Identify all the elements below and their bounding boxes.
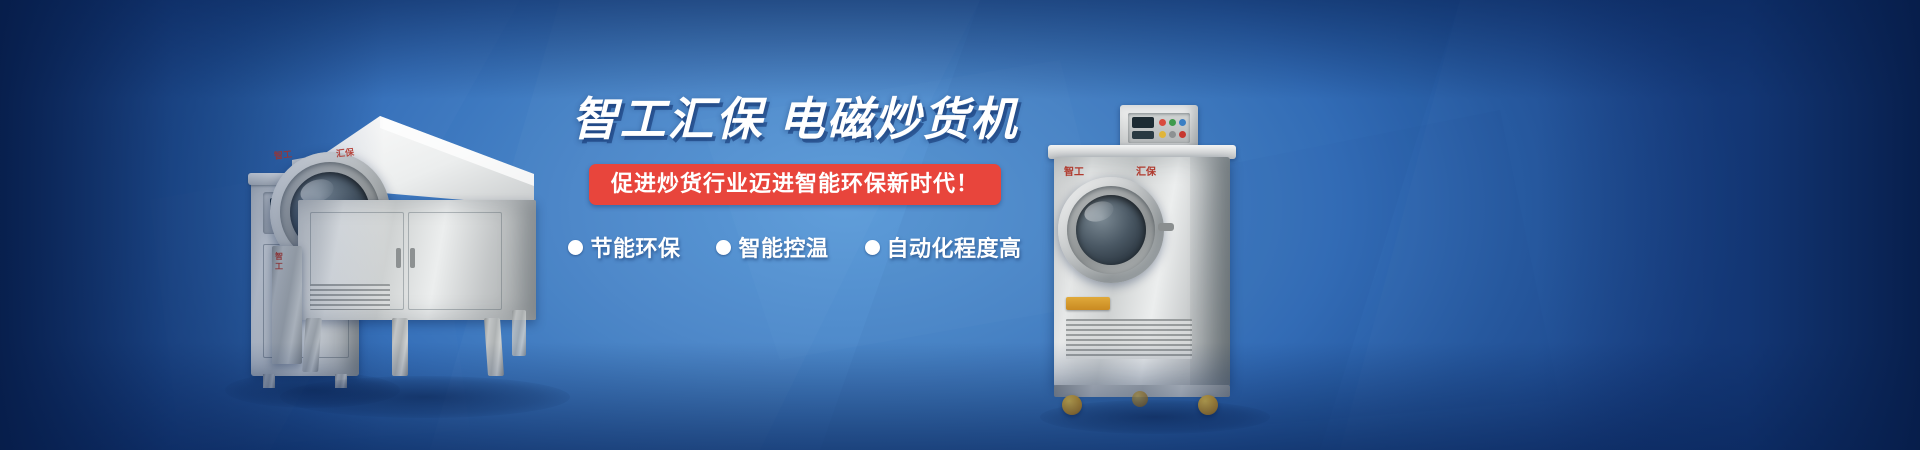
left-roaster-leg-3 [484,318,504,376]
filled-circle-bullet-icon [865,240,880,255]
left-roaster-vent-grille [310,284,390,310]
right-roaster-caster-front-left [1062,395,1082,415]
product-right-roaster: 智工 汇保 [1040,105,1270,415]
filled-circle-bullet-icon [568,240,583,255]
right-panel-yellow-light [1159,131,1166,138]
filled-circle-bullet-icon [716,240,731,255]
left-roaster-column-label: 智工 [275,252,284,273]
left-roaster-door-handle-right[interactable] [410,248,415,268]
feature-label: 智能控温 [738,231,828,263]
promotional-banner: 智工 汇保 智工 智工汇保 电磁炒货机 促进炒货行业迈进智能环保新时代！ 节能环… [0,0,1920,450]
right-panel-green-light [1169,119,1176,126]
feature-item-energy-saving: 节能环保 [568,231,680,263]
feature-item-automation: 自动化程度高 [865,231,1022,263]
right-roaster-brand-mark-secondary: 汇保 [1136,163,1156,178]
right-panel-blue-light [1179,119,1186,126]
product-left-roaster: 智工 汇保 智工 [262,96,562,396]
page-title: 智工汇保 电磁炒货机 [560,96,1030,142]
right-panel-display [1132,117,1154,128]
feature-item-smart-temperature: 智能控温 [716,231,828,263]
tagline-ribbon: 促进炒货行业迈进智能环保新时代！ [589,164,1001,205]
right-roaster-brand-mark: 智工 [1064,163,1084,178]
left-roaster-leg-1 [302,318,322,372]
right-panel-red-light [1159,119,1166,126]
right-roaster-caster-front-right [1198,395,1218,415]
feature-label: 节能环保 [590,231,680,263]
left-roaster-brand-mark: 智工 [273,147,292,162]
right-control-panel[interactable] [1128,113,1190,143]
feature-label: 自动化程度高 [887,231,1022,263]
right-roaster-vent-grille [1066,319,1192,359]
feature-list: 节能环保 智能控温 自动化程度高 [560,231,1030,263]
left-roaster-leg-4 [512,310,526,356]
right-roaster-caster-rear [1132,391,1148,407]
left-roaster-leg-2 [392,318,408,376]
left-roaster-door-right[interactable] [408,212,502,310]
banner-copy: 智工汇保 电磁炒货机 促进炒货行业迈进智能环保新时代！ 节能环保 智能控温 自动… [560,96,1030,263]
left-roaster-door-handle-left[interactable] [396,248,401,268]
right-roaster-side-panel [1190,157,1230,387]
right-panel-display-secondary [1132,131,1154,139]
left-roaster-brand-mark-secondary: 汇保 [335,145,354,160]
right-panel-stop-button[interactable] [1179,131,1186,138]
right-roaster-hatch-latch[interactable] [1158,223,1174,231]
right-roaster-warning-label [1066,297,1110,310]
right-panel-grey-light [1169,131,1176,138]
